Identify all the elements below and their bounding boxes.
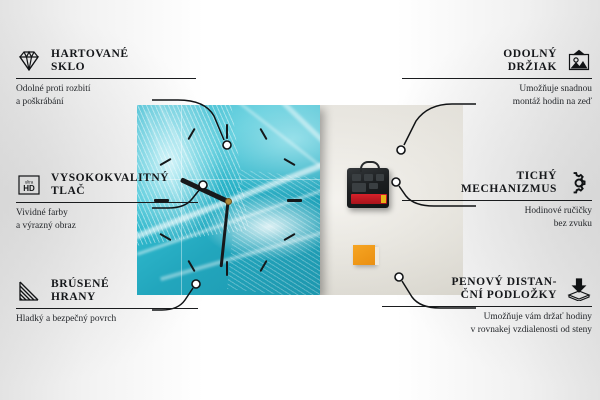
feature-desc-line2: v rovnakej vzdialenosti od steny (382, 324, 592, 336)
feature-divider (16, 78, 196, 79)
picture-hanger-icon (566, 49, 592, 73)
feature-desc-line1: Vividné farby (16, 207, 198, 219)
feature-divider (16, 308, 198, 309)
feature-title-line1: BRÚSENÉ (51, 278, 109, 291)
feature-desc-line1: Odolné proti rozbití (16, 83, 196, 95)
feature-titles: ODOLNÝ DRŽIAK (503, 48, 557, 74)
feature-header: ODOLNÝ DRŽIAK (402, 48, 592, 74)
wire-endpoint-dot (223, 141, 231, 149)
feature-titles: BRÚSENÉ HRANY (51, 278, 109, 304)
feature-title-line1: HARTOVANÉ (51, 48, 129, 61)
feature-desc-line2: a výrazný obraz (16, 220, 198, 232)
feature-titles: TICHÝ MECHANIZMUS (461, 170, 557, 196)
wire-endpoint-dot (397, 146, 405, 154)
wire-holder (404, 104, 476, 145)
feature-divider (402, 78, 592, 79)
feature-foam-spacers: PENOVÝ DISTAN- ČNÍ PODLOŽKY Umožňuje vám… (382, 276, 592, 336)
feature-title-line2: ČNÍ PODLOŽKY (451, 289, 557, 302)
feature-titles: HARTOVANÉ SKLO (51, 48, 129, 74)
feature-desc-line2: bez zvuku (402, 218, 592, 230)
diamond-icon (16, 49, 42, 73)
feature-description: Umožňuje vám držať hodiny v rovnakej vzd… (382, 311, 592, 336)
infographic-canvas: HARTOVANÉ SKLO Odolné proti rozbití a po… (0, 0, 600, 400)
feature-title-line2: MECHANIZMUS (461, 183, 557, 196)
feature-title-line1: ODOLNÝ (503, 48, 557, 61)
svg-text:HD: HD (23, 184, 35, 193)
gear-icon (566, 171, 592, 195)
wire-endpoint-dot (392, 178, 400, 186)
feature-title-line2: TLAČ (51, 185, 169, 198)
feature-description: Umožňuje snadnou montáž hodin na zeď (402, 83, 592, 108)
feature-title-line1: TICHÝ (461, 170, 557, 183)
feature-description: Hladký a bezpečný povrch (16, 313, 198, 325)
feature-durable-holder: ODOLNÝ DRŽIAK Umožňuje snadnou montáž ho… (402, 48, 592, 108)
beveled-edge-icon (16, 279, 42, 303)
feature-description: Vividné farby a výrazný obraz (16, 207, 198, 232)
feature-title-line2: DRŽIAK (503, 61, 557, 74)
feature-high-quality-print: ultra HD VYSOKOKVALITNÝ TLAČ Vividné far… (16, 172, 198, 232)
feature-header: ultra HD VYSOKOKVALITNÝ TLAČ (16, 172, 198, 198)
feature-header: TICHÝ MECHANIZMUS (402, 170, 592, 196)
feature-header: HARTOVANÉ SKLO (16, 48, 196, 74)
feature-tempered-glass: HARTOVANÉ SKLO Odolné proti rozbití a po… (16, 48, 196, 108)
feature-title-line1: PENOVÝ DISTAN- (451, 276, 557, 289)
wire-endpoint-dot (199, 181, 207, 189)
feature-header: BRÚSENÉ HRANY (16, 278, 198, 304)
feature-desc-line1: Hladký a bezpečný povrch (16, 313, 198, 325)
feature-titles: PENOVÝ DISTAN- ČNÍ PODLOŽKY (451, 276, 557, 302)
feature-title-line2: SKLO (51, 61, 129, 74)
feature-header: PENOVÝ DISTAN- ČNÍ PODLOŽKY (382, 276, 592, 302)
feature-titles: VYSOKOKVALITNÝ TLAČ (51, 172, 169, 198)
feature-divider (382, 306, 592, 307)
feature-title-line2: HRANY (51, 291, 109, 304)
foam-spacer-icon (566, 277, 592, 301)
feature-desc-line1: Umožňuje snadnou (402, 83, 592, 95)
feature-desc-line1: Hodinové ručičky (402, 205, 592, 217)
ultra-hd-icon: ultra HD (16, 173, 42, 197)
feature-desc-line2: a poškrábání (16, 96, 196, 108)
feature-title-line1: VYSOKOKVALITNÝ (51, 172, 169, 185)
feature-silent-mechanism: TICHÝ MECHANIZMUS Hodinové ručičky bez z… (402, 170, 592, 230)
feature-divider (402, 200, 592, 201)
feature-desc-line2: montáž hodin na zeď (402, 96, 592, 108)
feature-beveled-edges: BRÚSENÉ HRANY Hladký a bezpečný povrch (16, 278, 198, 326)
feature-divider (16, 202, 198, 203)
feature-description: Odolné proti rozbití a poškrábání (16, 83, 196, 108)
feature-description: Hodinové ručičky bez zvuku (402, 205, 592, 230)
feature-desc-line1: Umožňuje vám držať hodiny (382, 311, 592, 323)
